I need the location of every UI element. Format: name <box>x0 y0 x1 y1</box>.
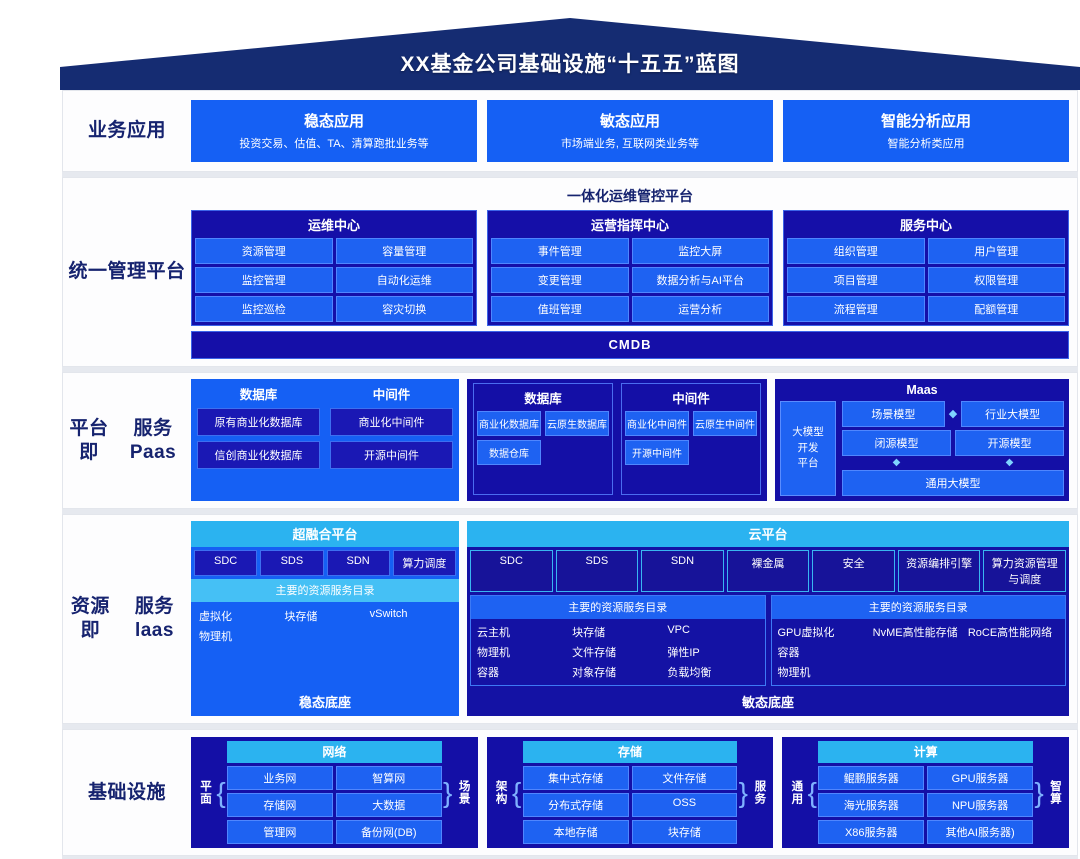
paas-agile-database: 数据库 商业化数据库 云原生数据库 数据仓库 <box>473 383 613 495</box>
layer-label-text: 基础 <box>88 781 127 805</box>
maas-industry-model[interactable]: 行业大模型 <box>961 401 1064 427</box>
paas-stable-block: 数据库 原有商业化数据库 信创商业化数据库 中间件 商业化中间件 开源中间件 <box>191 379 459 501</box>
maas-closed-model[interactable]: 闭源模型 <box>842 430 951 456</box>
layer-stack: 业务应用 稳态应用 投资交易、估值、TA、清算跑批业务等 敏态应用 市场端业务,… <box>62 90 1078 859</box>
center-item-grid: 组织管理 用户管理 项目管理 权限管理 流程管理 配额管理 <box>787 238 1065 322</box>
paas-agile-middleware: 中间件 商业化中间件 云原生中间件 开源中间件 <box>621 383 761 495</box>
hci-footer: 稳态底座 <box>191 688 459 716</box>
paas-item[interactable]: 商业化数据库 <box>477 411 541 436</box>
infra-compute-block: 通用 { 计算 鲲鹏服务器 GPU服务器 海光服务器 NPU服务器 X86服务器… <box>782 737 1069 848</box>
cloud-catalog-items: GPU虚拟化 NvME高性能存储 RoCE高性能网络 容器 物理机 <box>772 619 1066 685</box>
catalog-item: 物理机 <box>778 664 869 680</box>
layer-label-text: 平台 <box>147 260 186 284</box>
infra-item[interactable]: 集中式存储 <box>523 766 629 790</box>
maas-mid-pair: 闭源模型 开源模型 <box>842 430 1064 456</box>
center-item-grid: 事件管理 监控大屏 变更管理 数据分析与AI平台 值班管理 运营分析 <box>491 238 769 322</box>
infra-right-label: 服务 <box>749 741 769 844</box>
paas-item[interactable]: 数据仓库 <box>477 440 541 465</box>
catalog-item: 块存储 <box>572 624 663 640</box>
infra-item-grid: 鲲鹏服务器 GPU服务器 海光服务器 NPU服务器 X86服务器 其他AI服务器… <box>818 766 1033 844</box>
left-brace-icon: { <box>511 741 523 844</box>
infra-storage-content: 存储 集中式存储 文件存储 分布式存储 OSS 本地存储 块存储 <box>523 741 738 844</box>
paas-item[interactable]: 开源中间件 <box>625 440 689 465</box>
infra-storage-block: 架构 { 存储 集中式存储 文件存储 分布式存储 OSS 本地存储 块存储 <box>487 737 774 848</box>
cloud-capability[interactable]: 资源编排引擎 <box>898 550 981 592</box>
cloud-capability[interactable]: 裸金属 <box>727 550 810 592</box>
layer-label-management: 统一管理 平台 <box>63 178 191 366</box>
infra-item[interactable]: 本地存储 <box>523 820 629 844</box>
hci-capability[interactable]: SDN <box>327 550 390 576</box>
center-ops[interactable]: 运维中心 资源管理 容量管理 监控管理 自动化运维 监控巡检 容灾切换 <box>191 210 477 326</box>
paas-stable-database: 数据库 原有商业化数据库 信创商业化数据库 <box>197 383 320 474</box>
center-service[interactable]: 服务中心 组织管理 用户管理 项目管理 权限管理 流程管理 配额管理 <box>783 210 1069 326</box>
center-columns: 运维中心 资源管理 容量管理 监控管理 自动化运维 监控巡检 容灾切换 运营指挥… <box>191 210 1069 326</box>
maas-top-pair: 场景模型 ◆ 行业大模型 <box>842 401 1064 427</box>
infra-item[interactable]: 鲲鹏服务器 <box>818 766 924 790</box>
infra-item[interactable]: 文件存储 <box>632 766 738 790</box>
catalog-item: 物理机 <box>199 628 280 644</box>
cloud-catalog-ai: 主要的资源服务目录 GPU虚拟化 NvME高性能存储 RoCE高性能网络 容器 … <box>771 595 1067 686</box>
infra-item[interactable]: OSS <box>632 793 738 817</box>
hci-capability[interactable]: SDS <box>260 550 323 576</box>
catalog-item: 容器 <box>778 644 869 660</box>
center-item[interactable]: 值班管理 <box>491 296 629 322</box>
page-title: XX基金公司基础设施“十五五”蓝图 <box>60 48 1080 78</box>
right-brace-icon: } <box>442 741 454 844</box>
up-arrow-icon: ◆ <box>955 459 1064 467</box>
maas-dev-platform[interactable]: 大模型 开发 平台 <box>780 401 836 496</box>
catalog-item <box>873 644 964 660</box>
center-item[interactable]: 事件管理 <box>491 238 629 264</box>
layer-label-infrastructure: 基础 设施 <box>63 730 191 855</box>
infra-item[interactable]: 其他AI服务器) <box>927 820 1033 844</box>
app-card-stable[interactable]: 稳态应用 投资交易、估值、TA、清算跑批业务等 <box>191 100 477 162</box>
layer-label-text: 设施 <box>127 781 166 805</box>
layer-label-iaas: 资源即 服务laas <box>63 515 191 723</box>
infra-item[interactable]: 管理网 <box>227 820 333 844</box>
paas-agile-block: 数据库 商业化数据库 云原生数据库 数据仓库 中间件 商业化中间件 云原生中间件… <box>467 379 767 501</box>
infra-left-label: 通用 <box>786 741 806 844</box>
maas-general-model[interactable]: 通用大模型 <box>842 470 1064 496</box>
infra-title: 计算 <box>818 741 1033 763</box>
catalog-item <box>968 664 1059 680</box>
center-title: 运营指挥中心 <box>491 211 769 238</box>
infra-item[interactable]: 存储网 <box>227 793 333 817</box>
maas-dev-line: 平台 <box>798 456 819 472</box>
cloud-catalog-items: 云主机 块存储 VPC 物理机 文件存储 弹性IP 容器 对象存储 负载均衡 <box>471 619 765 685</box>
left-arrow-icon: ◆ <box>949 409 957 420</box>
group-title: 中间件 <box>330 384 453 403</box>
infra-network-content: 网络 业务网 智算网 存储网 大数据 管理网 备份网(DB) <box>227 741 442 844</box>
catalog-item: GPU虚拟化 <box>778 624 869 640</box>
cmdb-bar[interactable]: CMDB <box>191 331 1069 359</box>
cloud-platform-block: 云平台 SDC SDS SDN 裸金属 安全 资源编排引擎 算力资源管理与调度 … <box>467 521 1069 716</box>
roof-banner: XX基金公司基础设施“十五五”蓝图 <box>60 18 1080 90</box>
app-title: 敏态应用 <box>493 110 767 131</box>
layer-infrastructure: 基础 设施 平面 { 网络 业务网 智算网 存储网 大数据 管理网 <box>62 729 1078 856</box>
layer-label-text: 服务laas <box>118 595 191 643</box>
center-item[interactable]: 配额管理 <box>928 296 1066 322</box>
catalog-item: VPC <box>667 624 758 640</box>
layer-label-business: 业务应用 <box>63 91 191 171</box>
hci-catalog-label: 主要的资源服务目录 <box>191 579 459 602</box>
cloud-capability[interactable]: 算力资源管理与调度 <box>983 550 1066 592</box>
infra-item[interactable]: 业务网 <box>227 766 333 790</box>
maas-block: Maas 大模型 开发 平台 场景模型 ◆ 行业大模型 <box>775 379 1069 501</box>
paas-agile-item-grid: 商业化数据库 云原生数据库 数据仓库 <box>477 411 609 465</box>
infra-left-label: 架构 <box>491 741 511 844</box>
infra-item[interactable]: NPU服务器 <box>927 793 1033 817</box>
layer-paas: 平台即 服务Paas 数据库 原有商业化数据库 信创商业化数据库 中间件 商业化… <box>62 372 1078 509</box>
paas-item[interactable]: 商业化中间件 <box>625 411 689 436</box>
center-item-grid: 资源管理 容量管理 监控管理 自动化运维 监控巡检 容灾切换 <box>195 238 473 322</box>
right-brace-icon: } <box>737 741 749 844</box>
diagram-canvas: XX基金公司基础设施“十五五”蓝图 业务应用 稳态应用 投资交易、估值、TA、清… <box>0 0 1080 608</box>
catalog-item: 块存储 <box>284 608 365 624</box>
catalog-item: 云主机 <box>477 624 568 640</box>
layer-label-text: 服务Paas <box>115 417 191 465</box>
layer-business-application: 业务应用 稳态应用 投资交易、估值、TA、清算跑批业务等 敏态应用 市场端业务,… <box>62 90 1078 172</box>
center-item[interactable]: 监控管理 <box>195 267 333 293</box>
center-operation-command[interactable]: 运营指挥中心 事件管理 监控大屏 变更管理 数据分析与AI平台 值班管理 运营分… <box>487 210 773 326</box>
catalog-item: RoCE高性能网络 <box>968 624 1059 640</box>
center-item[interactable]: 资源管理 <box>195 238 333 264</box>
center-item[interactable]: 监控大屏 <box>632 238 770 264</box>
layer-label-text: 业务应用 <box>88 119 166 143</box>
maas-dev-line: 大模型 <box>792 425 824 441</box>
infra-title: 网络 <box>227 741 442 763</box>
center-item[interactable]: 自动化运维 <box>336 267 474 293</box>
paas-item[interactable]: 云原生数据库 <box>545 411 609 436</box>
center-item[interactable]: 流程管理 <box>787 296 925 322</box>
infra-network-block: 平面 { 网络 业务网 智算网 存储网 大数据 管理网 备份网(DB) <box>191 737 478 848</box>
layer-label-text: 平台即 <box>63 417 115 465</box>
center-item[interactable]: 容灾切换 <box>336 296 474 322</box>
maas-arrow-row: ◆ ◆ <box>842 459 1064 467</box>
iaas-body: 超融合平台 SDC SDS SDN 算力调度 主要的资源服务目录 虚拟化 块存储… <box>191 515 1077 723</box>
center-item[interactable]: 组织管理 <box>787 238 925 264</box>
center-item[interactable]: 监控巡检 <box>195 296 333 322</box>
maas-row: 大模型 开发 平台 场景模型 ◆ 行业大模型 闭源模型 <box>780 401 1064 496</box>
catalog-item <box>968 644 1059 660</box>
cloud-capability[interactable]: 安全 <box>812 550 895 592</box>
infra-item[interactable]: 块存储 <box>632 820 738 844</box>
hci-capability[interactable]: 算力调度 <box>393 550 456 576</box>
up-arrow-icon: ◆ <box>842 459 951 467</box>
cloud-capability[interactable]: SDN <box>641 550 724 592</box>
catalog-item: 弹性IP <box>667 644 758 660</box>
app-subtitle: 智能分析类应用 <box>789 135 1063 151</box>
left-brace-icon: { <box>806 741 818 844</box>
cloud-catalog-general: 主要的资源服务目录 云主机 块存储 VPC 物理机 文件存储 弹性IP 容器 对… <box>470 595 766 686</box>
paas-stable-middleware: 中间件 商业化中间件 开源中间件 <box>330 383 453 474</box>
left-brace-icon: { <box>215 741 227 844</box>
layer-iaas: 资源即 服务laas 超融合平台 SDC SDS SDN 算力调度 主要的资源服… <box>62 514 1078 724</box>
management-body: 一体化运维管控平台 运维中心 资源管理 容量管理 监控管理 自动化运维 监控巡检… <box>191 178 1077 366</box>
infra-item-grid: 集中式存储 文件存储 分布式存储 OSS 本地存储 块存储 <box>523 766 738 844</box>
paas-body: 数据库 原有商业化数据库 信创商业化数据库 中间件 商业化中间件 开源中间件 <box>191 373 1077 508</box>
cloud-footer: 敏态底座 <box>467 688 1069 716</box>
infra-item[interactable]: 备份网(DB) <box>336 820 442 844</box>
infra-item[interactable]: 大数据 <box>336 793 442 817</box>
maas-model-stack: 场景模型 ◆ 行业大模型 闭源模型 开源模型 ◆ ◆ <box>842 401 1064 496</box>
center-item[interactable]: 运营分析 <box>632 296 770 322</box>
catalog-item: 文件存储 <box>572 644 663 660</box>
layer-unified-management: 统一管理 平台 一体化运维管控平台 运维中心 资源管理 容量管理 监控管理 自动… <box>62 177 1078 367</box>
layer-label-text: 统一管理 <box>68 260 146 284</box>
app-card-agile[interactable]: 敏态应用 市场端业务, 互联网类业务等 <box>487 100 773 162</box>
layer-label-text: 资源即 <box>63 595 118 643</box>
catalog-item: 容器 <box>477 664 568 680</box>
infra-item[interactable]: 智算网 <box>336 766 442 790</box>
paas-stable-columns: 数据库 原有商业化数据库 信创商业化数据库 中间件 商业化中间件 开源中间件 <box>197 383 453 474</box>
hyperconverged-platform-block: 超融合平台 SDC SDS SDN 算力调度 主要的资源服务目录 虚拟化 块存储… <box>191 521 459 716</box>
infra-item-grid: 业务网 智算网 存储网 大数据 管理网 备份网(DB) <box>227 766 442 844</box>
infra-right-label: 场景 <box>454 741 474 844</box>
paas-item[interactable]: 信创商业化数据库 <box>197 441 320 469</box>
group-title: 中间件 <box>625 388 757 407</box>
layer-label-paas: 平台即 服务Paas <box>63 373 191 508</box>
infra-compute-content: 计算 鲲鹏服务器 GPU服务器 海光服务器 NPU服务器 X86服务器 其他AI… <box>818 741 1033 844</box>
center-title: 运维中心 <box>195 211 473 238</box>
catalog-item: 物理机 <box>477 644 568 660</box>
paas-agile-item-grid: 商业化中间件 云原生中间件 开源中间件 <box>625 411 757 465</box>
cloud-title: 云平台 <box>467 521 1069 547</box>
catalog-item <box>873 664 964 680</box>
infra-left-label: 平面 <box>195 741 215 844</box>
paas-item[interactable]: 云原生中间件 <box>693 411 757 436</box>
center-item[interactable]: 容量管理 <box>336 238 474 264</box>
infra-item[interactable]: 分布式存储 <box>523 793 629 817</box>
paas-item[interactable]: 原有商业化数据库 <box>197 408 320 436</box>
app-subtitle: 投资交易、估值、TA、清算跑批业务等 <box>197 135 471 151</box>
infra-item[interactable]: 海光服务器 <box>818 793 924 817</box>
hci-capability[interactable]: SDC <box>194 550 257 576</box>
infra-right-label: 智算 <box>1045 741 1065 844</box>
maas-title: Maas <box>780 383 1064 397</box>
catalog-item: 对象存储 <box>572 664 663 680</box>
app-title: 智能分析应用 <box>789 110 1063 131</box>
center-item[interactable]: 用户管理 <box>928 238 1066 264</box>
app-title: 稳态应用 <box>197 110 471 131</box>
cloud-catalog-columns: 主要的资源服务目录 云主机 块存储 VPC 物理机 文件存储 弹性IP 容器 对… <box>467 595 1069 688</box>
business-app-row: 稳态应用 投资交易、估值、TA、清算跑批业务等 敏态应用 市场端业务, 互联网类… <box>191 91 1077 171</box>
paas-item[interactable]: 开源中间件 <box>330 441 453 469</box>
center-item[interactable]: 项目管理 <box>787 267 925 293</box>
infra-title: 存储 <box>523 741 738 763</box>
group-title: 数据库 <box>477 388 609 407</box>
infra-item[interactable]: X86服务器 <box>818 820 924 844</box>
catalog-item: NvME高性能存储 <box>873 624 964 640</box>
infra-item[interactable]: GPU服务器 <box>927 766 1033 790</box>
center-title: 服务中心 <box>787 211 1065 238</box>
catalog-item: vSwitch <box>370 608 451 624</box>
hci-catalog-items: 虚拟化 块存储 vSwitch 物理机 <box>191 602 459 688</box>
app-subtitle: 市场端业务, 互联网类业务等 <box>493 135 767 151</box>
center-item[interactable]: 变更管理 <box>491 267 629 293</box>
infrastructure-body: 平面 { 网络 业务网 智算网 存储网 大数据 管理网 备份网(DB) <box>191 730 1077 855</box>
maas-open-model[interactable]: 开源模型 <box>955 430 1064 456</box>
catalog-item: 虚拟化 <box>199 608 280 624</box>
cloud-capability[interactable]: SDC <box>470 550 553 592</box>
paas-item[interactable]: 商业化中间件 <box>330 408 453 436</box>
center-item[interactable]: 权限管理 <box>928 267 1066 293</box>
maas-scene-model[interactable]: 场景模型 <box>842 401 945 427</box>
app-card-analytics[interactable]: 智能分析应用 智能分析类应用 <box>783 100 1069 162</box>
cloud-capability[interactable]: SDS <box>556 550 639 592</box>
group-title: 数据库 <box>197 384 320 403</box>
center-item[interactable]: 数据分析与AI平台 <box>632 267 770 293</box>
right-brace-icon: } <box>1033 741 1045 844</box>
hci-capability-row: SDC SDS SDN 算力调度 <box>191 547 459 579</box>
hci-title: 超融合平台 <box>191 521 459 547</box>
cloud-capability-row: SDC SDS SDN 裸金属 安全 资源编排引擎 算力资源管理与调度 <box>467 547 1069 595</box>
catalog-item: 负载均衡 <box>667 664 758 680</box>
maas-dev-line: 开发 <box>798 441 819 457</box>
platform-title: 一体化运维管控平台 <box>191 186 1069 206</box>
